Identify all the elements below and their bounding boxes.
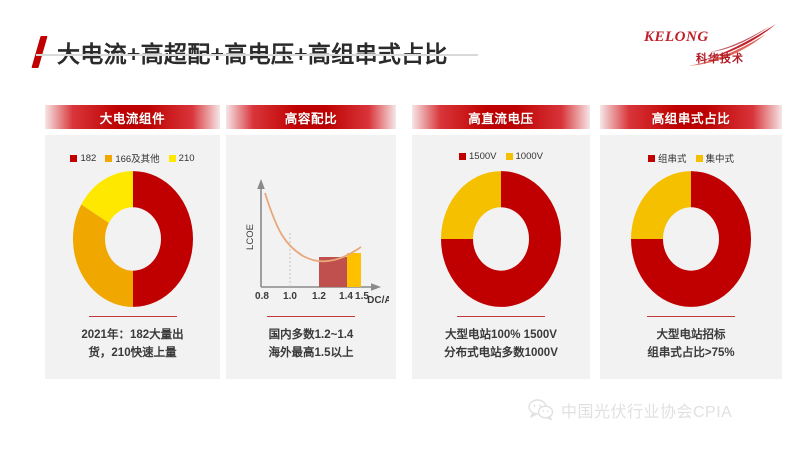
caption-line: 国内多数1.2~1.4	[234, 327, 388, 345]
donut-chart	[441, 171, 561, 307]
card-high-dc-ac-ratio[interactable]: 高容配比 LCOE	[226, 105, 396, 373]
chart-legend: 1500V 1000V	[412, 151, 590, 162]
card-caption: 2021年：182大量出 货，210快速上量	[45, 327, 220, 363]
y-axis-arrow-icon	[257, 179, 265, 189]
card-row: 大电流组件 182 166及其他 210	[0, 105, 800, 373]
card-header-label: 高直流电压	[468, 108, 534, 127]
card-body: 1500V 1000V	[412, 135, 590, 379]
x-tick-1p0: 1.0	[283, 291, 297, 302]
card-caption: 大型电站100% 1500V 分布式电站多数1000V	[412, 327, 590, 363]
caption-line: 海外最高1.5以上	[234, 345, 388, 363]
caption-line: 2021年：182大量出	[53, 327, 212, 345]
chart-legend: 组串式 集中式	[600, 151, 782, 165]
title-divider	[36, 54, 478, 56]
logo-wordmark-cn: 科华技术	[696, 50, 744, 66]
donut-chart-container	[600, 171, 782, 307]
card-caption: 大型电站招标 组串式占比>75%	[600, 327, 782, 363]
watermark-label: 中国光伏行业协会CPIA	[561, 398, 732, 422]
donut-chart-container	[45, 171, 220, 307]
card-header: 大电流组件	[45, 105, 220, 129]
legend-swatch-icon	[105, 155, 112, 162]
caption-line: 货，210快速上量	[53, 345, 212, 363]
donut-chart	[631, 171, 751, 307]
page-title-group: 大电流+高超配+高电压+高组串式占比	[36, 24, 448, 80]
legend-swatch-icon	[169, 155, 176, 162]
caption-line: 分布式电站多数1000V	[420, 345, 582, 363]
legend-swatch-icon	[459, 153, 466, 160]
logo-wordmark: KELONG	[644, 29, 709, 46]
lcoe-curve-chart: LCOE 0.8 1.0 1.2 1.4 1.5 DC/AC	[233, 169, 389, 309]
card-high-dc-voltage[interactable]: 高直流电压 1500V 1000V	[412, 105, 590, 373]
card-high-string-inverter-share[interactable]: 高组串式占比 组串式 集中式	[600, 105, 782, 373]
legend-label: 210	[179, 153, 195, 164]
legend-label: 1500V	[469, 151, 496, 162]
card-header: 高组串式占比	[600, 105, 782, 129]
card-header-label: 高组串式占比	[652, 108, 731, 127]
legend-label: 集中式	[706, 151, 735, 165]
x-tick-1p2: 1.2	[312, 291, 326, 302]
legend-item: 1500V	[459, 151, 496, 162]
legend-swatch-icon	[696, 155, 703, 162]
card-body: 组串式 集中式 大	[600, 135, 782, 379]
legend-label: 1000V	[516, 151, 543, 162]
title-accent-slash-icon	[31, 36, 47, 68]
caption-line: 大型电站100% 1500V	[420, 327, 582, 345]
legend-item: 182	[70, 153, 96, 164]
page-title: 大电流+高超配+高电压+高组串式占比	[57, 35, 448, 69]
card-high-current-module[interactable]: 大电流组件 182 166及其他 210	[45, 105, 220, 373]
donut-slice-1000v	[441, 171, 501, 239]
donut-slice-166	[73, 204, 133, 306]
caption-line: 组串式占比>75%	[608, 345, 774, 363]
legend-item: 集中式	[696, 151, 735, 165]
card-header-label: 高容配比	[285, 108, 337, 127]
caption-divider	[647, 316, 735, 318]
legend-label: 166及其他	[115, 151, 159, 165]
chart-legend: 182 166及其他 210	[45, 151, 220, 165]
legend-label: 182	[80, 153, 96, 164]
footer-watermark: 中国光伏行业协会CPIA	[528, 398, 732, 422]
x-axis-arrow-icon	[371, 283, 381, 291]
band-overseas-1p4-1p5	[347, 253, 361, 287]
card-body: 182 166及其他 210	[45, 135, 220, 379]
donut-slice-central	[631, 171, 691, 239]
card-caption: 国内多数1.2~1.4 海外最高1.5以上	[226, 327, 396, 363]
legend-label: 组串式	[658, 151, 687, 165]
donut-slice-182	[133, 171, 193, 307]
x-tick-0p8: 0.8	[255, 291, 269, 302]
donut-chart-container	[412, 171, 590, 307]
legend-item: 1000V	[506, 151, 543, 162]
caption-divider	[89, 316, 177, 318]
caption-line: 大型电站招标	[608, 327, 774, 345]
wechat-icon	[528, 399, 554, 421]
card-body: LCOE 0.8 1.0 1.2 1.4 1.5 DC/AC 国内多数1.2~1…	[226, 135, 396, 379]
caption-divider	[457, 316, 545, 318]
legend-item: 210	[169, 153, 195, 164]
lcoe-curve-line	[265, 193, 361, 261]
x-axis-label: DC/AC	[367, 295, 389, 306]
legend-swatch-icon	[648, 155, 655, 162]
legend-item: 166及其他	[105, 151, 159, 165]
legend-swatch-icon	[506, 153, 513, 160]
legend-item: 组串式	[648, 151, 687, 165]
legend-swatch-icon	[70, 155, 77, 162]
card-header: 高直流电压	[412, 105, 590, 129]
y-axis-label: LCOE	[245, 224, 256, 250]
slide-root: 大电流+高超配+高电压+高组串式占比 KELONG 科华技术 大电流组件 182	[0, 0, 800, 450]
caption-divider	[267, 316, 355, 318]
donut-chart	[73, 171, 193, 307]
card-header-label: 大电流组件	[100, 108, 166, 127]
card-header: 高容配比	[226, 105, 396, 129]
brand-logo: KELONG 科华技术	[642, 18, 780, 74]
x-tick-1p4: 1.4	[339, 291, 353, 302]
